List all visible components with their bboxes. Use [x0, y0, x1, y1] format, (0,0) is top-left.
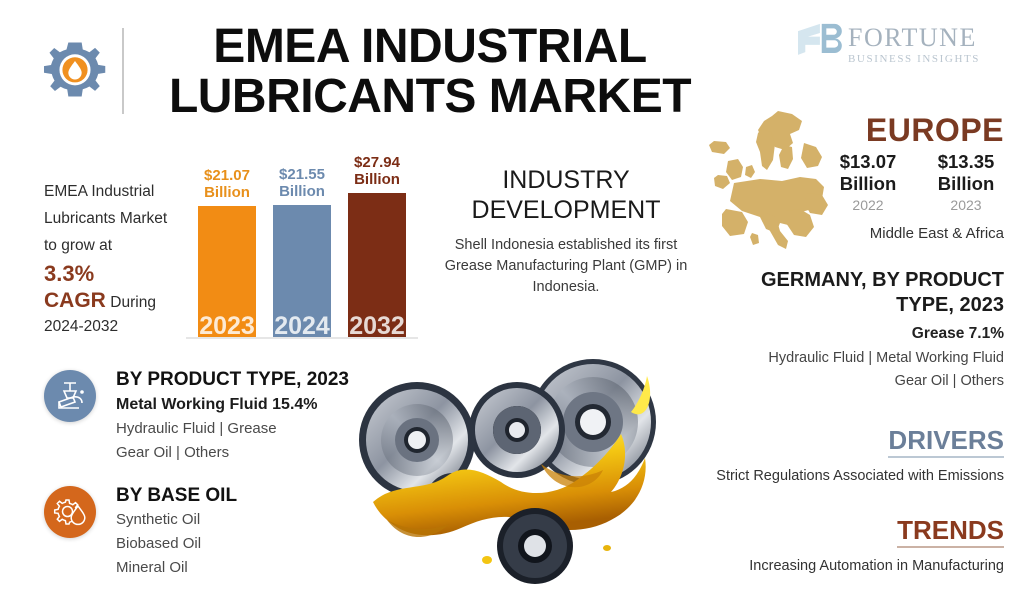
- trends-body: Increasing Automation in Manufacturing: [714, 556, 1004, 577]
- market-size-bar-chart: $21.07Billion 2023 $21.55Billion 2024 $2…: [192, 165, 407, 337]
- gear-oil-drop-icon: [44, 486, 96, 538]
- cagr-line-2: Lubricants Market: [44, 205, 194, 232]
- cagr-during: During: [110, 294, 156, 311]
- bar-value-label-2023: $21.07Billion: [198, 167, 256, 201]
- header: EMEA INDUSTRIAL LUBRICANTS MARKET FORTUN…: [0, 0, 1024, 120]
- bar-rect-2024: 2024: [273, 205, 331, 337]
- europe-value-2022: $13.07: [830, 151, 906, 173]
- drivers-heading: DRIVERS: [888, 425, 1004, 458]
- bar-year-label-2023: 2023: [198, 313, 256, 339]
- bar-value: $27.94: [354, 154, 400, 171]
- segment-heading: BY PRODUCT TYPE, 2023: [116, 368, 374, 392]
- bar-group-2023: $21.07Billion 2023: [198, 167, 256, 337]
- segment-heading: BY BASE OIL: [116, 484, 374, 508]
- segment-sub-1: Hydraulic Fluid | Grease: [116, 417, 374, 441]
- drivers-body: Strict Regulations Associated with Emiss…: [714, 466, 1004, 487]
- germany-heading-line2: TYPE, 2023: [714, 293, 1004, 318]
- brand-logo: FORTUNE BUSINESS INSIGHTS: [796, 22, 1006, 74]
- gears-with-oil-splash-photo: [345, 352, 695, 597]
- industry-development-heading-line2: DEVELOPMENT: [435, 195, 697, 225]
- bar-group-2032: $27.94Billion 2032: [348, 154, 406, 337]
- cagr-years: 2024-2032: [44, 313, 194, 340]
- bar-value-label-2024: $21.55Billion: [273, 166, 331, 200]
- cagr-summary: EMEA Industrial Lubricants Market to gro…: [44, 178, 194, 340]
- europe-figure-2022: $13.07 Billion 2022: [830, 151, 906, 215]
- page-title-line2: LUBRICANTS MARKET: [140, 72, 720, 122]
- europe-year-2023: 2023: [928, 195, 1004, 215]
- fb-monogram-icon: [796, 22, 842, 64]
- cagr-line-1: EMEA Industrial: [44, 178, 194, 205]
- industry-development-body: Shell Indonesia established its first Gr…: [435, 235, 697, 298]
- infographic-page: EMEA INDUSTRIAL LUBRICANTS MARKET FORTUN…: [0, 0, 1024, 608]
- brand-name: FORTUNE: [848, 24, 980, 52]
- industry-development-block: INDUSTRY DEVELOPMENT Shell Indonesia est…: [435, 165, 697, 298]
- segment-by-product-type: BY PRODUCT TYPE, 2023 Metal Working Flui…: [44, 368, 374, 465]
- chart-baseline: [186, 337, 418, 339]
- cagr-word: CAGR: [44, 289, 106, 312]
- middle-east-africa-note: Middle East & Africa: [734, 225, 1004, 242]
- bar-year-label-2032: 2032: [348, 313, 406, 339]
- brand-subtitle: BUSINESS INSIGHTS: [848, 52, 980, 66]
- germany-sub-line2: Gear Oil | Others: [714, 370, 1004, 393]
- lubricant-dispenser-icon: [44, 370, 96, 422]
- europe-title: EUROPE: [734, 112, 1004, 148]
- germany-heading-line1: GERMANY, BY PRODUCT: [714, 268, 1004, 293]
- header-divider: [122, 28, 124, 114]
- segment-by-base-oil: BY BASE OIL Synthetic Oil Biobased Oil M…: [44, 484, 374, 580]
- bar-unit: Billion: [204, 184, 250, 201]
- page-title: EMEA INDUSTRIAL LUBRICANTS MARKET: [140, 22, 720, 122]
- bar-unit: Billion: [354, 171, 400, 188]
- segment-sub-1: Synthetic Oil: [116, 508, 374, 532]
- bar-rect-2032: 2032: [348, 193, 406, 337]
- cagr-percent: 3.3%: [44, 259, 194, 289]
- bar-value-label-2032: $27.94Billion: [348, 154, 406, 188]
- segment-sub-2: Gear Oil | Others: [116, 441, 374, 465]
- europe-figure-2023: $13.35 Billion 2023: [928, 151, 1004, 215]
- bar-value: $21.55: [279, 166, 325, 183]
- page-title-line1: EMEA INDUSTRIAL: [140, 22, 720, 72]
- germany-top-item: Grease 7.1%: [714, 321, 1004, 347]
- bar-unit: Billion: [279, 183, 325, 200]
- bar-value: $21.07: [204, 167, 250, 184]
- europe-value-2023: $13.35: [928, 151, 1004, 173]
- germany-product-type-block: GERMANY, BY PRODUCT TYPE, 2023 Grease 7.…: [714, 268, 1004, 393]
- europe-unit-2022: Billion: [830, 173, 906, 195]
- bar-rect-2023: 2023: [198, 206, 256, 337]
- gear-oil-drop-icon: [38, 38, 112, 112]
- europe-year-2022: 2022: [830, 195, 906, 215]
- drivers-block: DRIVERS Strict Regulations Associated wi…: [714, 425, 1004, 487]
- europe-block: EUROPE $13.07 Billion 2022 $13.35 Billio…: [734, 112, 1004, 215]
- bar-year-label-2024: 2024: [273, 313, 331, 339]
- segment-main-value: Metal Working Fluid 15.4%: [116, 392, 374, 417]
- industry-development-heading-line1: INDUSTRY: [435, 165, 697, 195]
- europe-unit-2023: Billion: [928, 173, 1004, 195]
- germany-sub-line1: Hydraulic Fluid | Metal Working Fluid: [714, 347, 1004, 370]
- trends-block: TRENDS Increasing Automation in Manufact…: [714, 515, 1004, 577]
- segment-sub-2: Biobased Oil: [116, 532, 374, 556]
- segment-sub-3: Mineral Oil: [116, 556, 374, 580]
- cagr-line-3: to grow at: [44, 232, 194, 259]
- bar-group-2024: $21.55Billion 2024: [273, 166, 331, 337]
- trends-heading: TRENDS: [897, 515, 1004, 548]
